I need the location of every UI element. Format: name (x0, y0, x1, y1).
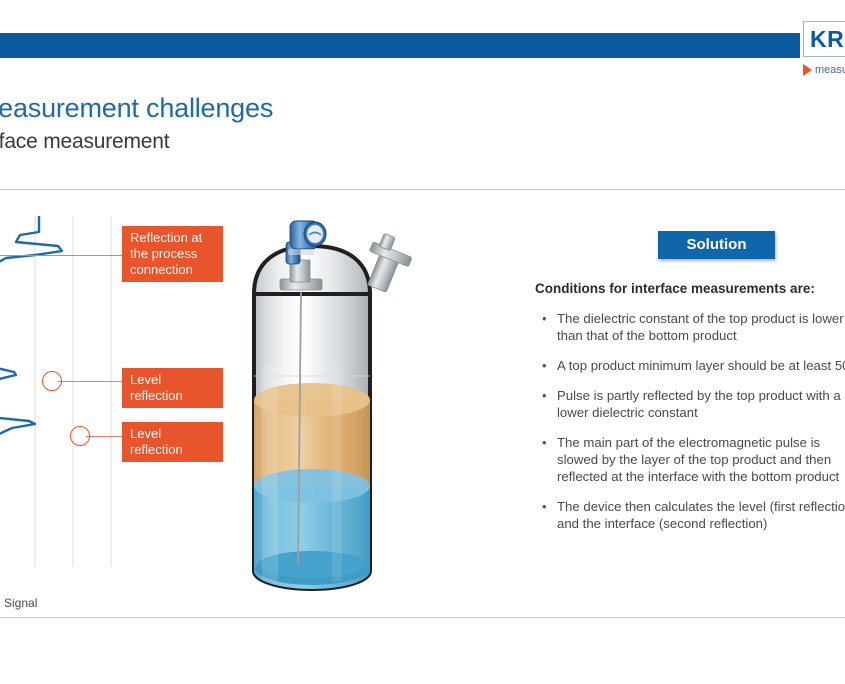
tank-svg (232, 216, 472, 611)
callout-level-reflection-1: Level reflection (122, 368, 223, 408)
list-item: • The device then calculates the level (… (535, 498, 845, 532)
chart-caption-signal: Signal (4, 596, 37, 610)
arrow-right-icon (803, 64, 812, 76)
leader-line-level-reflection-2 (86, 436, 122, 437)
list-item-text: The dielectric constant of the top produ… (557, 310, 845, 344)
chart-baseline-divider (0, 617, 845, 618)
page-title: Level measurement challenges (0, 93, 273, 124)
echo-curve-chart (0, 216, 130, 586)
krohne-logo: KROHNE (803, 21, 845, 57)
list-item-text: The main part of the electromagnetic pul… (557, 434, 845, 485)
callout-level-reflection-2: Level reflection (122, 422, 223, 462)
title-divider (0, 189, 845, 190)
bullet-marker: • (542, 498, 547, 515)
krohne-logo-tagline: measure the facts (803, 61, 845, 77)
solution-badge: Solution (658, 231, 775, 259)
echo-curve-line (0, 216, 62, 566)
bullet-marker: • (542, 310, 547, 327)
list-item: • The dielectric constant of the top pro… (535, 310, 845, 344)
list-item: • The main part of the electromagnetic p… (535, 434, 845, 485)
leader-line-level-reflection-1 (58, 381, 122, 382)
header-blue-bar (0, 33, 800, 58)
bullet-marker: • (542, 357, 547, 374)
solution-heading: Conditions for interface measurements ar… (535, 281, 815, 296)
list-item-text: A top product minimum layer should be at… (557, 357, 845, 374)
tank-shell (252, 246, 372, 591)
callout-line-1: Level (130, 372, 161, 387)
page-subtitle: TDR: interface measurement (0, 130, 169, 154)
callout-line-2: reflection (130, 388, 183, 403)
bullet-marker: • (542, 434, 547, 451)
tank-contents (252, 366, 372, 591)
echo-curve-svg (0, 216, 130, 586)
marker-circle-level-reflection-2 (70, 426, 90, 446)
solution-bullet-list: • The dielectric constant of the top pro… (535, 310, 845, 545)
list-item: • Pulse is partly reflected by the top p… (535, 387, 845, 421)
callout-line-2: the process (130, 246, 197, 261)
list-item: • A top product minimum layer should be … (535, 357, 845, 374)
leader-line-process-connection (0, 255, 122, 256)
chart-gridlines (0, 216, 111, 566)
list-item-text: Pulse is partly reflected by the top pro… (557, 387, 845, 421)
callout-process-connection: Reflection at the process connection (122, 226, 223, 282)
krohne-logo-text: KROHNE (810, 26, 845, 53)
slide-root: KROHNE measure the facts Level measureme… (0, 0, 845, 684)
tank-illustration (232, 216, 472, 611)
krohne-tagline-text: measure the facts (815, 64, 845, 76)
callout-line-1: Reflection at (130, 230, 202, 245)
list-item-text: The device then calculates the level (fi… (557, 498, 845, 532)
callout-line-1: Level (130, 426, 161, 441)
callout-line-2: reflection (130, 442, 183, 457)
callout-line-3: connection (130, 262, 193, 277)
bullet-marker: • (542, 387, 547, 404)
marker-circle-level-reflection-1 (42, 371, 62, 391)
